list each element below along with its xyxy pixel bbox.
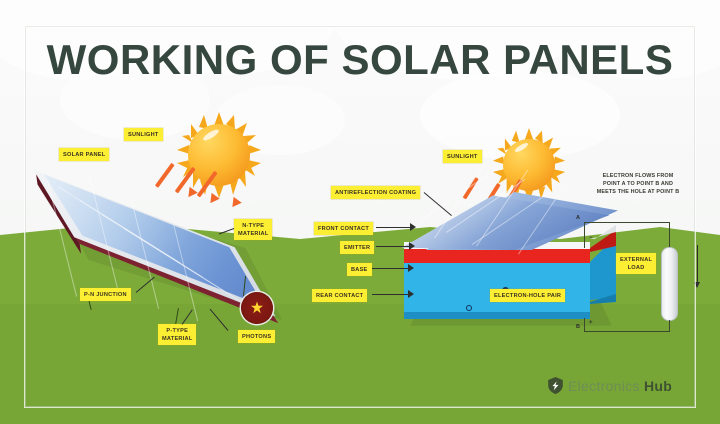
leader-arrow-rear-contact bbox=[408, 290, 414, 298]
circuit-wire-b-vertical bbox=[584, 318, 585, 332]
leader-arrow-front-contact bbox=[410, 223, 416, 231]
layer-base-bottom bbox=[404, 312, 590, 319]
current-direction-arrow bbox=[694, 282, 700, 288]
circuit-wire-right-top bbox=[669, 222, 670, 248]
label-solar-panel: SOLAR PANEL bbox=[59, 148, 109, 161]
leader-line-rear-contact bbox=[372, 294, 410, 295]
label-base: BASE bbox=[347, 263, 372, 276]
label-electron-hole-pair: ELECTRON-HOLE PAIR bbox=[490, 289, 565, 302]
label-p-type-material: P-TYPE MATERIAL bbox=[158, 324, 196, 345]
current-direction-line bbox=[697, 245, 698, 283]
infographic-canvas: WORKING OF SOLAR PANELS bbox=[0, 0, 720, 424]
shield-icon bbox=[548, 377, 563, 394]
photons-bubble bbox=[241, 292, 273, 324]
brand-logo: Electronics Hub bbox=[548, 377, 672, 394]
external-load-component bbox=[661, 247, 678, 321]
hole-dot bbox=[466, 305, 472, 311]
label-n-type-material: N-TYPE MATERIAL bbox=[234, 219, 272, 240]
leader-arrow-emitter bbox=[409, 242, 415, 250]
logo-word-hub: Hub bbox=[644, 378, 672, 394]
logo-text: Electronics Hub bbox=[568, 378, 672, 394]
label-rear-contact: REAR CONTACT bbox=[312, 289, 367, 302]
layer-emitter-front bbox=[404, 248, 590, 263]
label-sunlight-right: SUNLIGHT bbox=[443, 150, 482, 163]
sun-icon-right bbox=[492, 128, 566, 202]
label-photons: PHOTONS bbox=[238, 330, 275, 343]
point-b-label: B bbox=[576, 324, 580, 330]
label-pn-junction: P-N JUNCTION bbox=[80, 288, 131, 301]
annotation-electron-flow: ELECTRON FLOWS FROM POINT A TO POINT B A… bbox=[578, 172, 698, 196]
label-emitter: EMITTER bbox=[340, 241, 374, 254]
label-front-contact: FRONT CONTACT bbox=[314, 222, 373, 235]
negative-sign: − bbox=[589, 235, 593, 241]
label-external-load: EXTERNAL LOAD bbox=[616, 253, 656, 274]
leader-arrow-base bbox=[408, 264, 414, 272]
page-title: WORKING OF SOLAR PANELS bbox=[0, 36, 720, 84]
label-antireflection-coating: ANTIREFLECTION COATING bbox=[331, 186, 420, 199]
positive-sign: + bbox=[589, 320, 593, 326]
point-a-label: A bbox=[576, 215, 580, 221]
sun-disc bbox=[503, 139, 555, 191]
logo-word-electronics: Electronics bbox=[568, 378, 640, 394]
circuit-wire-bottom bbox=[584, 331, 670, 332]
circuit-wire-top bbox=[584, 222, 670, 223]
leader-line-base bbox=[372, 268, 410, 269]
circuit-wire-a-vertical bbox=[584, 222, 585, 248]
photon-spark-icon bbox=[251, 302, 264, 315]
leader-line-front-contact bbox=[376, 227, 412, 228]
label-sunlight-left: SUNLIGHT bbox=[124, 128, 163, 141]
leader-line-emitter bbox=[376, 246, 411, 247]
